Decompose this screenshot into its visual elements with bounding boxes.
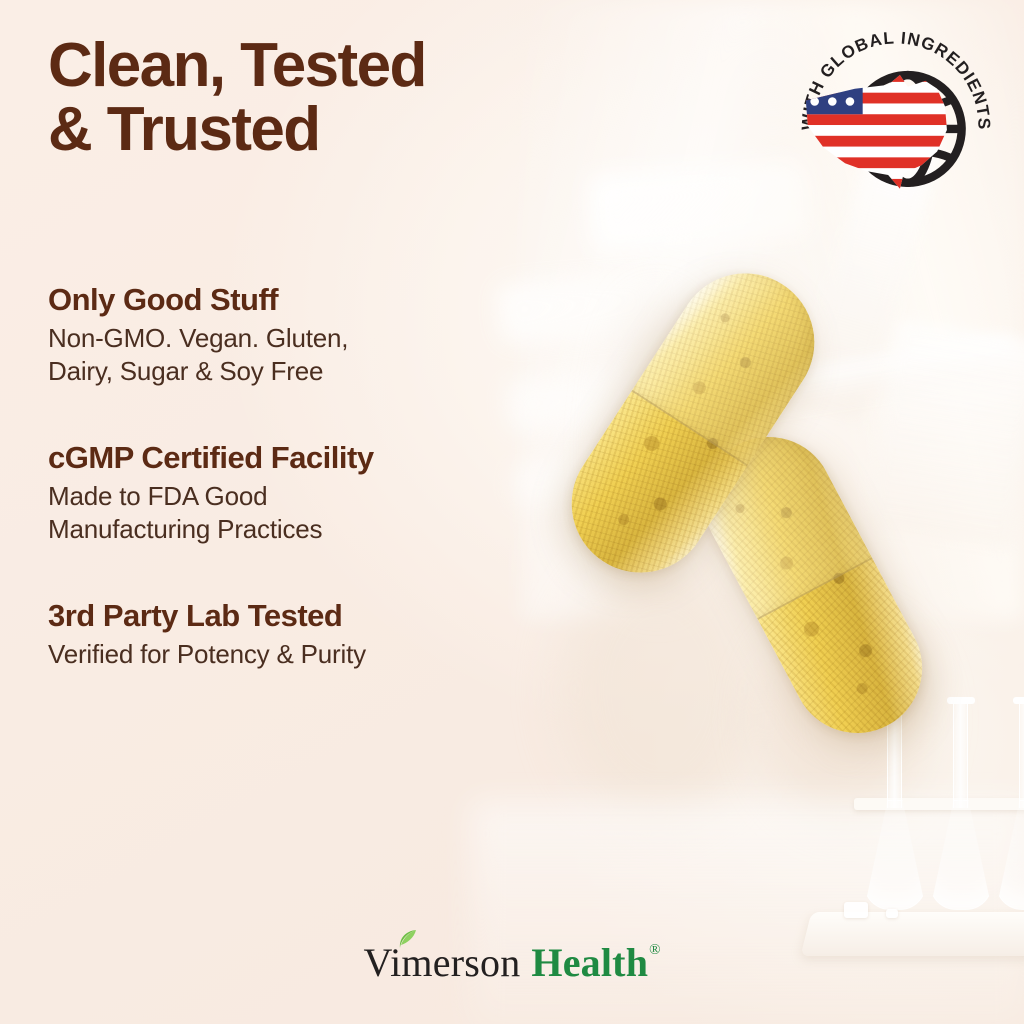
registered-trademark-mark: ®: [649, 942, 660, 959]
feature-title: 3rd Party Lab Tested: [48, 598, 568, 634]
feature-description: Verified for Potency & Purity: [48, 638, 568, 671]
feature-3rd-party-lab-tested: 3rd Party Lab Tested Verified for Potenc…: [48, 598, 568, 671]
supplement-capsules: [600, 250, 1024, 770]
leaf-icon: [398, 929, 418, 951]
product-infographic-canvas: Clean, Tested & Trusted Only Good Stuff …: [0, 0, 1024, 1024]
feature-cgmp-certified-facility: cGMP Certified Facility Made to FDA Good…: [48, 440, 568, 546]
tray-item: [844, 902, 868, 918]
erlenmeyer-flask: [864, 800, 926, 910]
globe-usa-flag-badge-icon: WITH GLOBAL INGREDIENTS: [798, 28, 994, 224]
with-global-ingredients-badge: WITH GLOBAL INGREDIENTS: [798, 28, 994, 224]
feature-description: Non-GMO. Vegan. Gluten, Dairy, Sugar & S…: [48, 322, 568, 388]
brand-logo: Vimerson Health ®: [0, 939, 1024, 986]
logo-word-vimerson: Vimerson: [363, 939, 520, 986]
page-title: Clean, Tested & Trusted: [48, 34, 608, 163]
feature-list: Only Good Stuff Non-GMO. Vegan. Gluten, …: [48, 282, 568, 671]
flask-rack-bar: [854, 798, 1024, 810]
feature-title: cGMP Certified Facility: [48, 440, 568, 476]
ceiling-light-panel: [588, 160, 811, 253]
erlenmeyer-flask: [996, 800, 1024, 910]
logo-word-health: Health: [531, 939, 648, 986]
feature-only-good-stuff: Only Good Stuff Non-GMO. Vegan. Gluten, …: [48, 282, 568, 388]
feature-description: Made to FDA Good Manufacturing Practices: [48, 480, 568, 546]
feature-title: Only Good Stuff: [48, 282, 568, 318]
erlenmeyer-flask: [930, 800, 992, 910]
tray-item: [886, 909, 898, 918]
